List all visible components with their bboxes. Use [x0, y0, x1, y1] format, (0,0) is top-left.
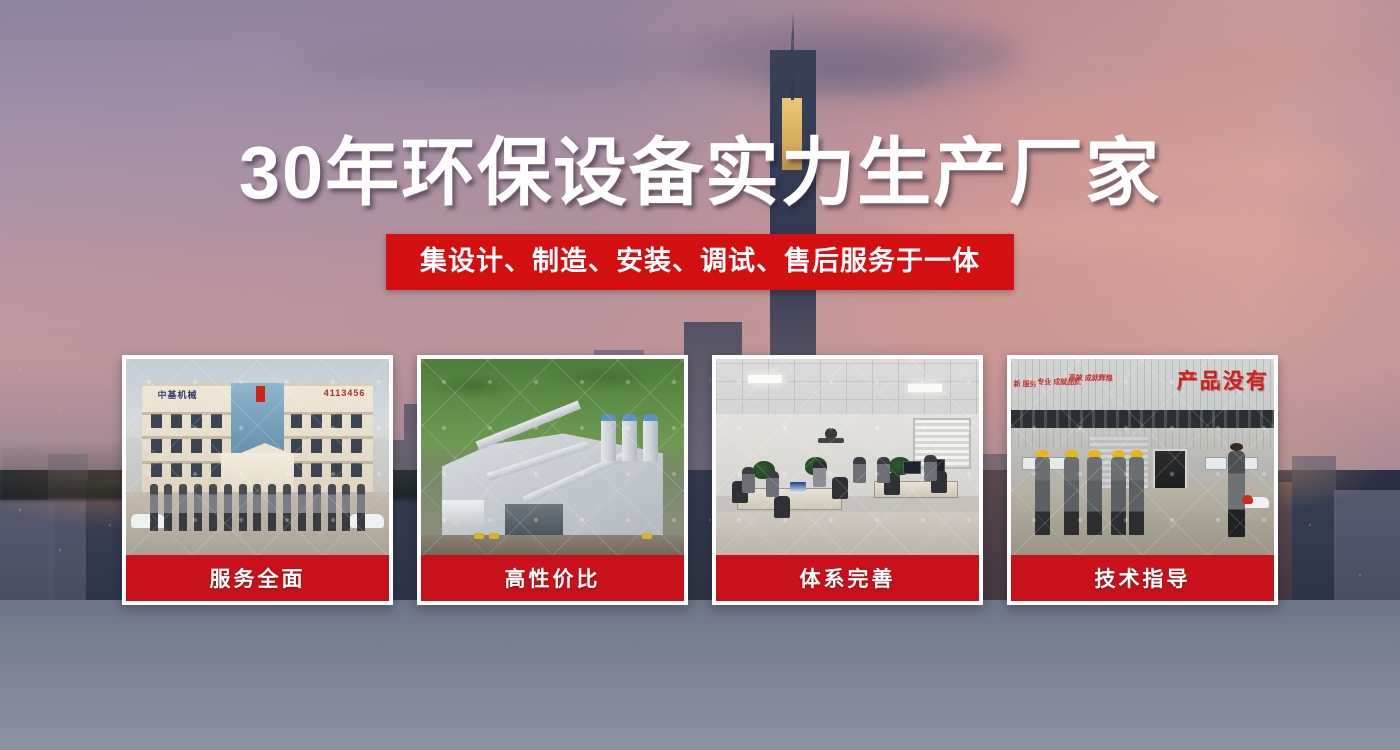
- card-caption: 高性价比: [421, 555, 684, 601]
- subtitle-banner: 集设计、制造、安装、调试、售后服务于一体: [386, 234, 1014, 290]
- building-sign-text: 中基机械: [158, 388, 198, 401]
- water-reflection: [0, 600, 1400, 750]
- card-caption: 技术指导: [1011, 555, 1274, 601]
- feature-card[interactable]: 产品没有 新 服务 专业 成就品质 高效 成就辉煌 技术指导: [1007, 355, 1278, 605]
- page-title: 30年环保设备实力生产厂家: [0, 132, 1400, 213]
- feature-card[interactable]: 体系完善: [712, 355, 983, 605]
- flag-icon: [256, 386, 265, 402]
- factory-wall-text: 产品没有: [1177, 365, 1269, 395]
- hero-banner: 30年环保设备实力生产厂家 集设计、制造、安装、调试、售后服务于一体: [0, 0, 1400, 750]
- feature-card-row: 中基机械 4113456 服务全面: [122, 355, 1278, 605]
- factory-wall-slogan: 高效 成就辉煌: [1069, 375, 1113, 384]
- office-interior-photo: [716, 359, 979, 555]
- tower-spire-tip: [792, 10, 794, 40]
- factory-wall-slogan: 新 服务: [1014, 381, 1037, 390]
- company-headquarters-photo: 中基机械 4113456: [126, 359, 389, 555]
- card-caption: 服务全面: [126, 555, 389, 601]
- supervisor-figure: [1228, 451, 1245, 537]
- subtitle-banner-wrap: 集设计、制造、安装、调试、售后服务于一体: [0, 234, 1400, 290]
- card-caption: 体系完善: [716, 555, 979, 601]
- staff-lineup: [150, 484, 366, 531]
- feature-card[interactable]: 中基机械 4113456 服务全面: [122, 355, 393, 605]
- tower-spire: [791, 30, 794, 100]
- laptop-icon: [790, 482, 806, 493]
- factory-workers-training-photo: 产品没有 新 服务 专业 成就品质 高效 成就辉煌: [1011, 359, 1274, 555]
- red-helmet-icon: [1242, 495, 1253, 504]
- aerial-production-plant-photo: [421, 359, 684, 555]
- wall-logo-icon: [816, 424, 846, 446]
- feature-card[interactable]: 高性价比: [417, 355, 688, 605]
- building-phone-text: 4113456: [324, 388, 366, 398]
